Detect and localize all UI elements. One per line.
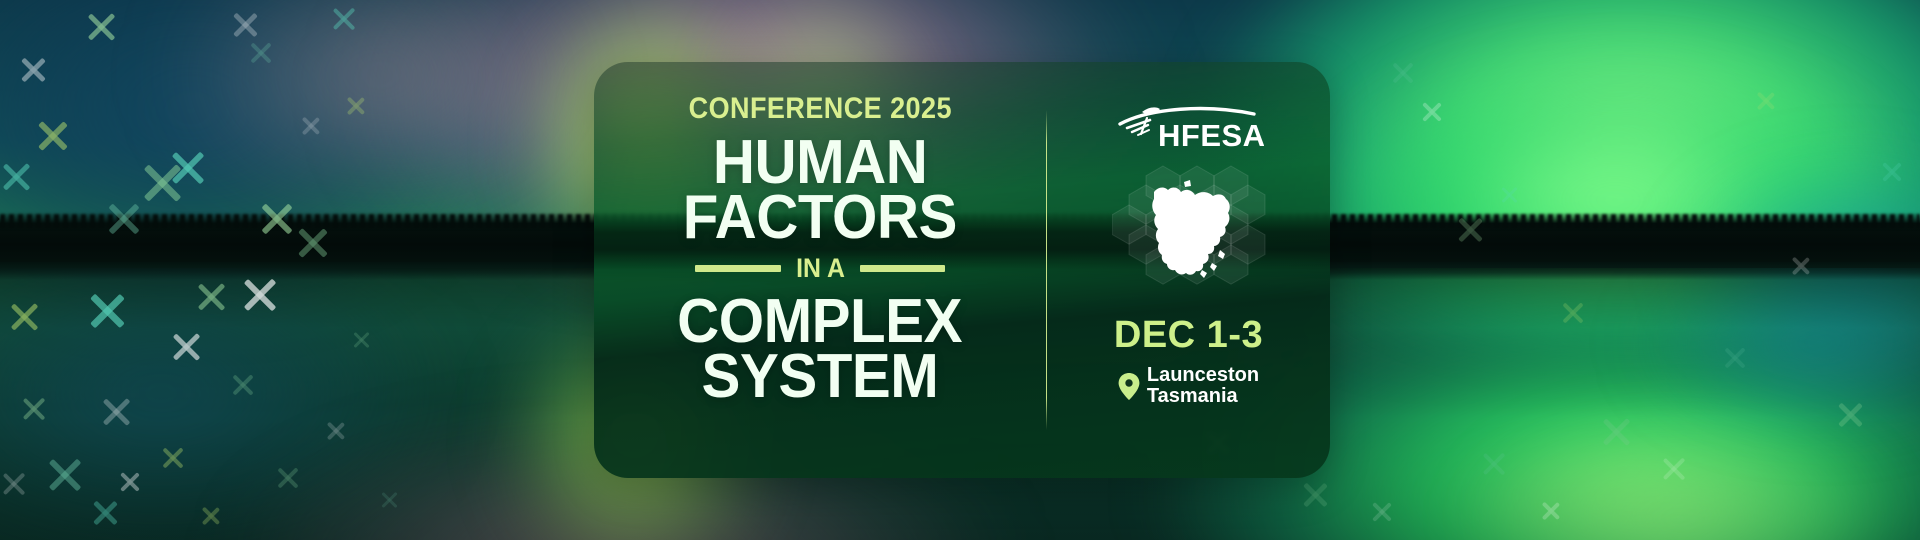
cross-x-icon — [380, 490, 400, 510]
title-block: CONFERENCE 2025 HUMAN FACTORS IN A COMPL… — [594, 62, 1046, 478]
cross-x-icon — [248, 40, 274, 66]
cross-x-icon — [18, 55, 48, 85]
title-connector: IN A — [796, 255, 845, 282]
cross-x-icon — [1755, 90, 1777, 112]
cross-x-icon — [1790, 255, 1812, 277]
cross-x-icon — [1500, 185, 1520, 205]
cross-x-icon — [86, 290, 128, 332]
cross-x-icon — [300, 115, 322, 137]
cross-x-icon — [240, 275, 280, 315]
cross-x-icon — [295, 225, 331, 261]
divider-bar-right — [860, 265, 946, 272]
divider-bar-left — [695, 265, 781, 272]
cross-x-icon — [345, 95, 367, 117]
cross-x-icon — [90, 498, 120, 528]
cross-x-icon — [1455, 215, 1485, 245]
location-row: Launceston Tasmania — [1118, 365, 1259, 407]
cross-x-icon — [1420, 100, 1444, 124]
cross-x-icon — [330, 5, 358, 33]
cross-x-icon — [200, 505, 222, 527]
location-label: Launceston Tasmania — [1147, 365, 1259, 407]
cross-x-icon — [0, 160, 34, 194]
cross-x-icon — [1560, 300, 1586, 326]
cross-x-icon — [230, 10, 260, 40]
cross-x-icon — [1370, 500, 1394, 524]
cross-x-icon — [1390, 60, 1416, 86]
cross-x-icon — [45, 455, 85, 495]
cross-x-icon — [20, 395, 48, 423]
cross-x-icon — [85, 10, 119, 44]
tasmania-map-graphic — [1112, 160, 1266, 300]
cross-x-icon — [325, 420, 347, 442]
cross-x-icon — [105, 200, 143, 238]
conference-kicker: CONFERENCE 2025 — [688, 94, 951, 124]
conference-banner: CONFERENCE 2025 HUMAN FACTORS IN A COMPL… — [0, 0, 1920, 540]
cross-x-icon — [195, 280, 229, 314]
cross-x-icon — [258, 200, 296, 238]
cross-x-icon — [1540, 500, 1562, 522]
hfesa-swoosh-icon: HFESA — [1114, 98, 1264, 150]
map-pin-icon — [1118, 373, 1140, 400]
cross-x-icon — [275, 465, 301, 491]
in-a-divider-row: IN A — [695, 255, 945, 282]
tasmania-map-icon — [1124, 166, 1252, 294]
cross-x-icon — [1600, 415, 1634, 449]
cross-x-icon — [1480, 450, 1508, 478]
cross-x-icon — [230, 372, 256, 398]
cross-x-icon — [118, 470, 142, 494]
title-line-factors: FACTORS — [683, 189, 957, 246]
cross-x-icon — [1835, 400, 1865, 430]
brand-block: HFESA — [1047, 62, 1330, 478]
cross-x-icon — [1300, 480, 1330, 510]
cross-x-icon — [35, 118, 71, 154]
cross-x-icon — [352, 330, 372, 350]
cross-x-icon — [1722, 345, 1748, 371]
cross-x-icon — [160, 445, 186, 471]
conference-dates: DEC 1-3 — [1114, 316, 1263, 354]
cross-x-icon — [8, 300, 42, 334]
conference-card: CONFERENCE 2025 HUMAN FACTORS IN A COMPL… — [594, 62, 1330, 478]
hfesa-wordmark: HFESA — [1158, 118, 1264, 150]
cross-x-icon — [170, 330, 204, 364]
title-line-system: SYSTEM — [702, 348, 939, 405]
cross-x-icon — [140, 160, 186, 206]
cross-x-icon — [1660, 455, 1688, 483]
cross-x-icon — [0, 470, 28, 498]
cross-x-icon — [100, 395, 134, 429]
cross-x-icon — [1880, 160, 1904, 184]
